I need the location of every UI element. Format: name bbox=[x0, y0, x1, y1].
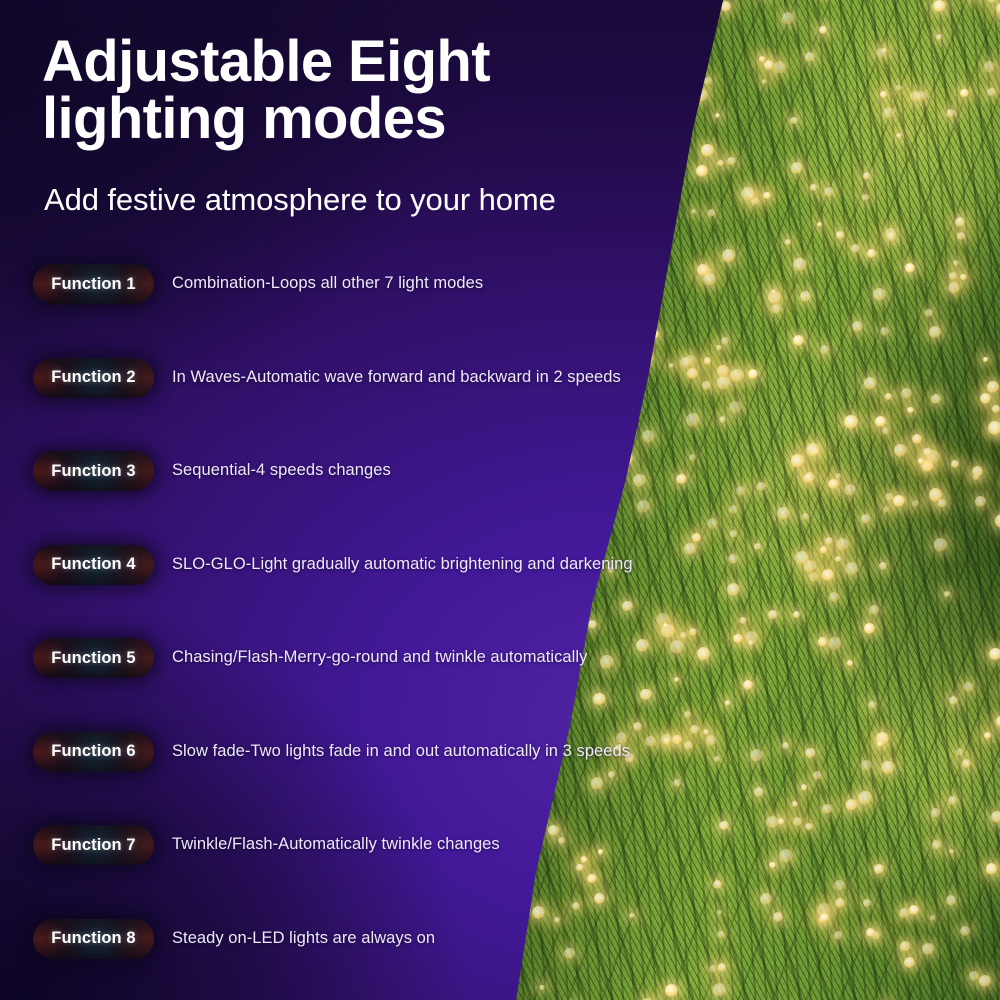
function-description: Sequential-4 speeds changes bbox=[172, 461, 391, 480]
function-badge-label: Function 1 bbox=[51, 275, 135, 294]
function-description: Slow fade-Two lights fade in and out aut… bbox=[172, 742, 630, 761]
function-description: SLO-GLO-Light gradually automatic bright… bbox=[172, 555, 633, 574]
function-badge-label: Function 8 bbox=[51, 929, 135, 948]
function-description: Steady on-LED lights are always on bbox=[172, 929, 435, 948]
function-description: Chasing/Flash-Merry-go-round and twinkle… bbox=[172, 648, 587, 667]
function-row: Function 7Twinkle/Flash-Automatically tw… bbox=[33, 825, 733, 919]
function-row: Function 1Combination-Loops all other 7 … bbox=[33, 264, 733, 358]
function-description: Twinkle/Flash-Automatically twinkle chan… bbox=[172, 835, 500, 854]
page-subtitle: Add festive atmosphere to your home bbox=[44, 182, 556, 218]
function-badge-1: Function 1 bbox=[33, 264, 154, 304]
page-title-line-1: Adjustable Eight bbox=[42, 34, 682, 91]
function-badge-4: Function 4 bbox=[33, 545, 154, 585]
function-description: In Waves-Automatic wave forward and back… bbox=[172, 368, 621, 387]
function-row: Function 5Chasing/Flash-Merry-go-round a… bbox=[33, 638, 733, 732]
function-badge-label: Function 4 bbox=[51, 555, 135, 574]
page-title: Adjustable Eight lighting modes bbox=[42, 34, 682, 148]
product-feature-banner: Adjustable Eight lighting modes Add fest… bbox=[0, 0, 1000, 1000]
function-badge-6: Function 6 bbox=[33, 732, 154, 772]
function-row: Function 2In Waves-Automatic wave forwar… bbox=[33, 358, 733, 452]
function-badge-7: Function 7 bbox=[33, 825, 154, 865]
function-badge-5: Function 5 bbox=[33, 638, 154, 678]
function-badge-label: Function 6 bbox=[51, 742, 135, 761]
function-badge-2: Function 2 bbox=[33, 358, 154, 398]
function-badge-label: Function 7 bbox=[51, 836, 135, 855]
function-badge-label: Function 5 bbox=[51, 649, 135, 668]
function-row: Function 4SLO-GLO-Light gradually automa… bbox=[33, 545, 733, 639]
function-row: Function 6Slow fade-Two lights fade in a… bbox=[33, 732, 733, 826]
function-description: Combination-Loops all other 7 light mode… bbox=[172, 274, 483, 293]
function-badge-8: Function 8 bbox=[33, 919, 154, 959]
page-title-line-2: lighting modes bbox=[42, 91, 682, 148]
function-list: Function 1Combination-Loops all other 7 … bbox=[33, 264, 733, 1000]
function-row: Function 3Sequential-4 speeds changes bbox=[33, 451, 733, 545]
function-badge-label: Function 2 bbox=[51, 368, 135, 387]
function-badge-label: Function 3 bbox=[51, 462, 135, 481]
function-badge-3: Function 3 bbox=[33, 451, 154, 491]
function-row: Function 8Steady on-LED lights are alway… bbox=[33, 919, 733, 1000]
